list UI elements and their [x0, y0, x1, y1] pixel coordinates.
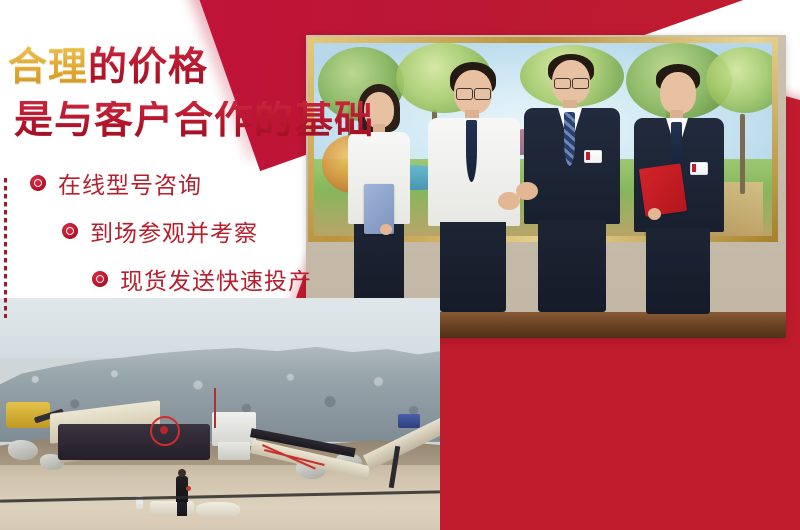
necktie [466, 120, 477, 182]
list-item[interactable]: 到场参观并考察 [0, 214, 312, 248]
person-man-red-folder [632, 62, 728, 312]
group-handshake-photo [306, 35, 786, 338]
mobile-jaw-crusher-body [58, 424, 210, 460]
headline-line-2: 是与客户合作的基础 [8, 101, 374, 140]
boulder [8, 440, 38, 460]
promo-banner: 合理的价格 是与客户合作的基础 在线型号咨询 到场参观并考察 现货发送快速投产 [0, 0, 800, 530]
glasses-icon [456, 88, 473, 100]
concrete-pipe [150, 501, 194, 516]
conveyor-motor [398, 414, 420, 428]
bullet-label: 到场参观并考察 [90, 214, 258, 248]
trousers [440, 222, 506, 312]
hand [648, 208, 661, 220]
dot-bullet-icon [30, 175, 46, 191]
name-badge [584, 150, 602, 163]
list-item[interactable]: 现货发送快速投产 [0, 262, 312, 296]
hand [380, 224, 392, 235]
crusher-control-panel [218, 442, 250, 460]
bullet-label: 现货发送快速投产 [120, 262, 312, 296]
trousers [646, 228, 710, 314]
worker-glove [186, 486, 191, 491]
handshake-hand [516, 182, 538, 200]
glasses-icon [554, 78, 571, 89]
trousers [538, 220, 606, 312]
crusher-control-cabinet [212, 412, 256, 446]
red-folder [639, 163, 687, 216]
name-badge [690, 162, 708, 175]
face [660, 72, 696, 114]
quarry-crusher-photo [0, 298, 440, 530]
bullet-list: 在线型号咨询 到场参观并考察 现货发送快速投产 [0, 166, 312, 310]
headline-line-1-rest: 的价格 [88, 45, 208, 90]
crusher-mast [214, 388, 216, 428]
headline-highlight: 合理 [8, 45, 88, 90]
dot-bullet-icon [62, 223, 78, 239]
person-man-white-shirt [426, 62, 522, 312]
person-man-navy-suit-striped-tie [522, 54, 622, 312]
glasses-icon [572, 78, 589, 89]
headline: 合理的价格 是与客户合作的基础 [8, 48, 374, 140]
necktie [564, 112, 575, 166]
glasses-icon [474, 88, 491, 100]
concrete-pipe [196, 502, 240, 518]
list-item[interactable]: 在线型号咨询 [0, 166, 312, 200]
headline-line-1: 合理的价格 [8, 48, 374, 87]
bullet-label: 在线型号咨询 [58, 166, 202, 200]
painting-tree-trunk [740, 114, 745, 194]
dot-bullet-icon [92, 271, 108, 287]
